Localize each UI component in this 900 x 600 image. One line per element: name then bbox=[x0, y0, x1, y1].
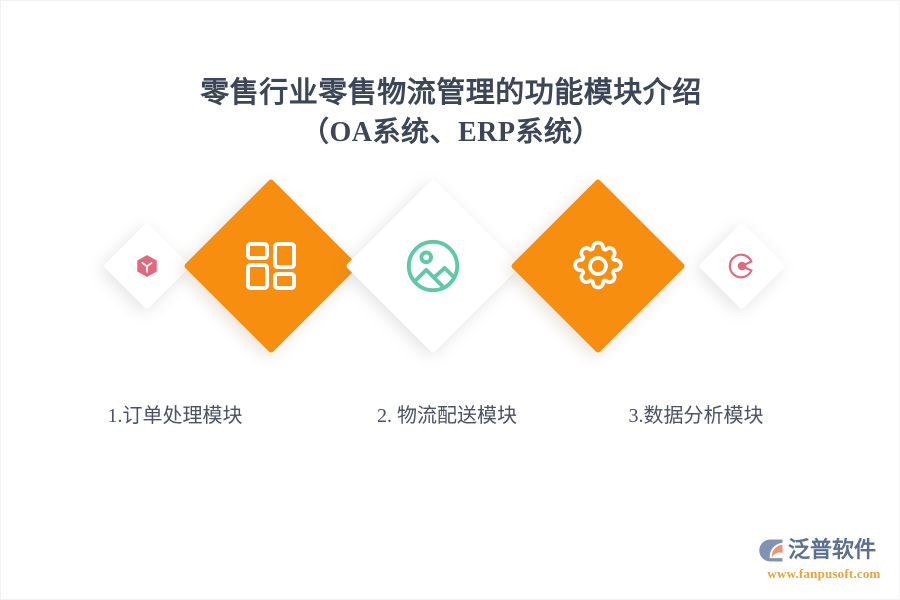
diamond-2[interactable] bbox=[183, 178, 358, 353]
gear-settings-icon bbox=[568, 236, 628, 296]
caption-item-1: 1.订单处理模块 bbox=[108, 401, 243, 431]
image-photo-icon bbox=[402, 235, 464, 297]
caption-item-3: 3.数据分析模块 bbox=[629, 401, 764, 431]
brand-logo-row: 泛普软件 bbox=[758, 535, 890, 565]
diamond-3[interactable] bbox=[345, 178, 520, 353]
page-title-line-1: 零售行业零售物流管理的功能模块介绍 bbox=[1, 73, 900, 113]
circle-dot-arc-icon bbox=[727, 251, 757, 281]
page-title: 零售行业零售物流管理的功能模块介绍 （OA系统、ERP系统） bbox=[1, 73, 900, 153]
brand-logo: 泛普软件 www.fanpusoft.com bbox=[758, 535, 890, 587]
dashboard-grid-icon bbox=[243, 238, 299, 294]
slide-canvas: 零售行业零售物流管理的功能模块介绍 （OA系统、ERP系统） bbox=[0, 0, 900, 600]
page-title-line-2: （OA系统、ERP系统） bbox=[1, 113, 900, 153]
diamond-row bbox=[1, 156, 900, 376]
diamond-4[interactable] bbox=[510, 178, 685, 353]
brand-url: www.fanpusoft.com bbox=[758, 566, 890, 582]
fanpu-logo-mark-icon bbox=[758, 537, 785, 564]
hexagon-cube-icon bbox=[134, 253, 160, 279]
caption-item-2: 2. 物流配送模块 bbox=[377, 401, 517, 431]
caption-row: 1.订单处理模块 2. 物流配送模块 3.数据分析模块 bbox=[1, 401, 900, 441]
diamond-1[interactable] bbox=[103, 222, 191, 310]
diamond-5[interactable] bbox=[698, 222, 786, 310]
brand-name: 泛普软件 bbox=[788, 537, 876, 563]
